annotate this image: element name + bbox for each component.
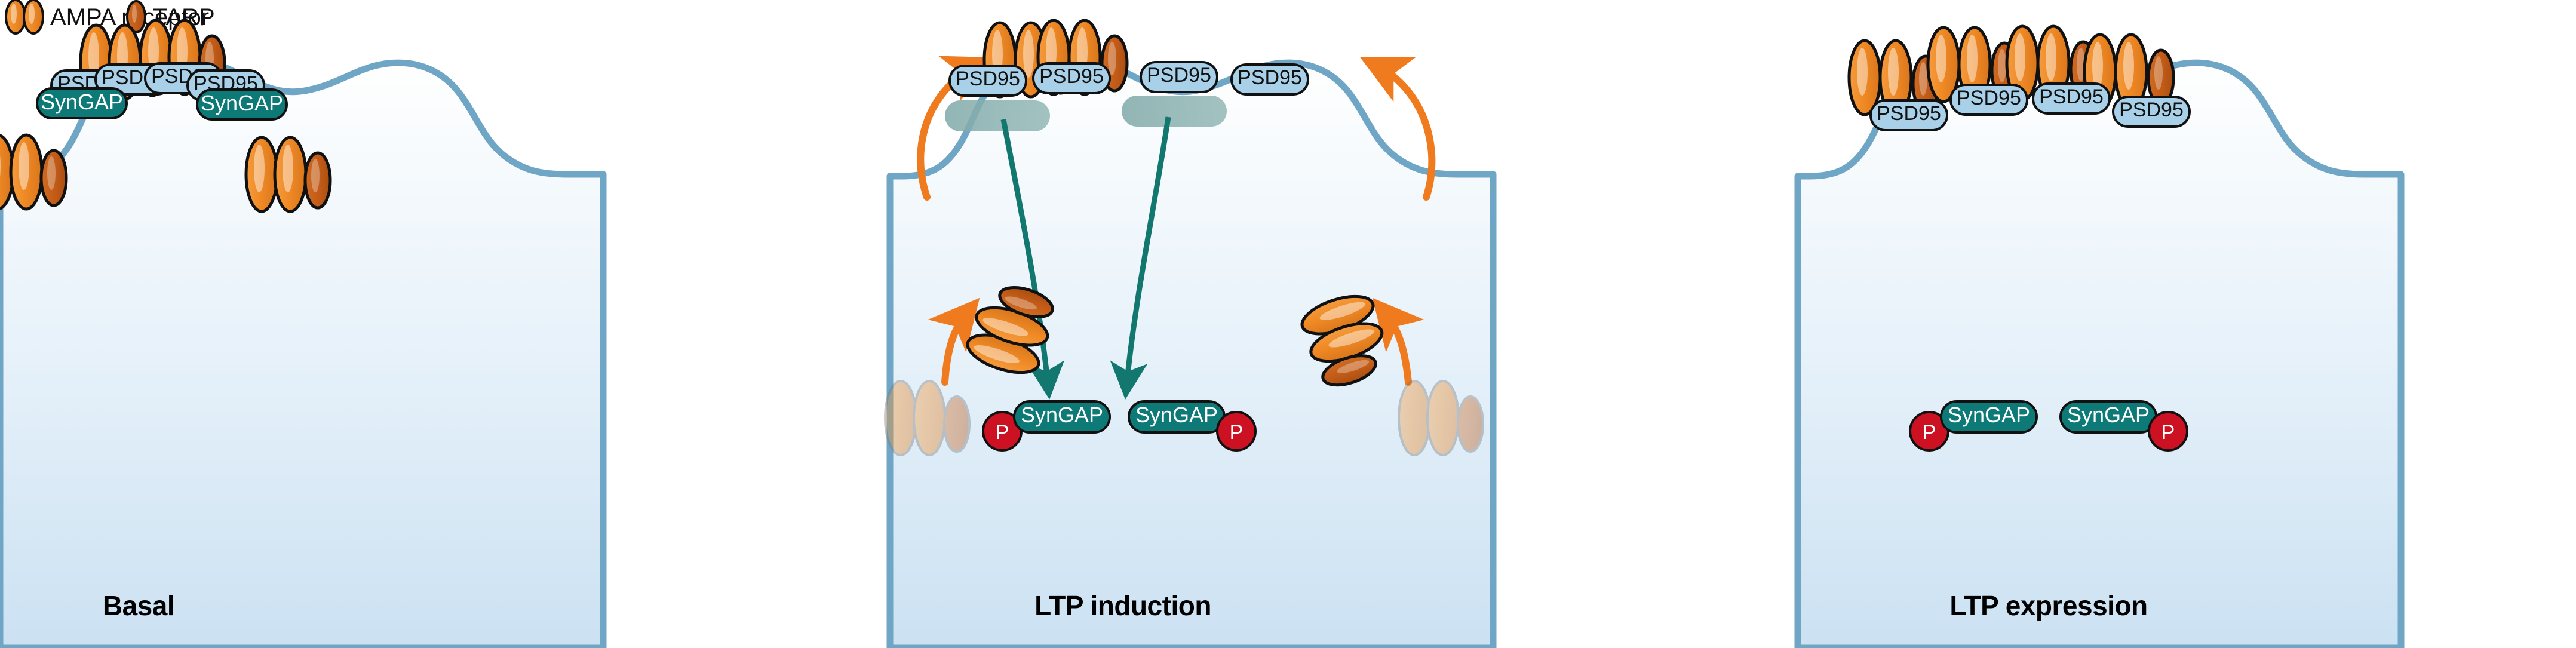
synapse-diagram: AMPA receptor TARP PSD95 PSD95 PSD95 PSD… (0, 0, 2576, 648)
panel-title-basal: Basal (103, 590, 174, 621)
receptor-cluster-extrasynaptic (0, 135, 66, 209)
syngap-label: SynGAP (201, 91, 283, 115)
panel-ltp-induction: PSD95 PSD95 PSD95 PSD95 P SynGAP SynGAP … (885, 20, 1493, 648)
psd95-label: PSD95 (1039, 65, 1104, 88)
psd95-slot: PSD95 (1871, 100, 1947, 130)
phospho-label: P (1230, 421, 1244, 444)
panel-basal: PSD95 PSD95 PSD95 PSD95 SynGAP SynGAP Ba… (0, 20, 603, 648)
psd95-slot: PSD95 (1033, 63, 1110, 93)
psd95-slot: PSD95 (950, 66, 1026, 96)
psd95-slot: PSD95 (1951, 85, 2027, 115)
psd95-label: PSD95 (956, 67, 1020, 90)
panel-ltp-expression: PSD95 PSD95 PSD95 PSD95 P SynGAP SynGAP … (1798, 26, 2401, 648)
syngap-molecule: SynGAP (37, 88, 127, 118)
vacated-psd-slot (1122, 96, 1227, 127)
psd95-slot: PSD95 (1232, 65, 1308, 94)
syngap-molecule: SynGAP (197, 90, 287, 119)
vacated-psd-slot (945, 100, 1050, 131)
spine-membrane-basal (0, 57, 603, 648)
psd95-label: PSD95 (1238, 66, 1302, 89)
spine-membrane-ltp-expression (1798, 57, 2401, 648)
phospho-label: P (1923, 421, 1936, 444)
panel-title-ltp-induction: LTP induction (1034, 590, 1211, 621)
psd95-label: PSD95 (1147, 64, 1211, 87)
psd95-label: PSD95 (1957, 87, 2021, 109)
psd95-slot: PSD95 (1141, 62, 1217, 92)
syngap-label: SynGAP (2067, 403, 2150, 427)
panel-title-ltp-expression: LTP expression (1949, 590, 2147, 621)
psd95-label: PSD95 (2039, 85, 2104, 108)
syngap-label: SynGAP (41, 90, 123, 114)
phospho-label: P (996, 421, 1009, 444)
legend-ampa-receptor (6, 0, 43, 33)
figure-canvas: AMPA receptor TARP PSD95 PSD95 PSD95 PSD… (0, 0, 2576, 648)
syngap-label: SynGAP (1021, 403, 1103, 427)
syngap-label: SynGAP (1948, 403, 2030, 427)
syngap-label: SynGAP (1135, 403, 1218, 427)
phospho-label: P (2161, 421, 2175, 444)
psd95-label: PSD95 (1877, 102, 1941, 125)
psd95-slot: PSD95 (2033, 84, 2110, 113)
psd95-slot: PSD95 (2113, 97, 2190, 127)
psd95-label: PSD95 (2119, 99, 2184, 121)
